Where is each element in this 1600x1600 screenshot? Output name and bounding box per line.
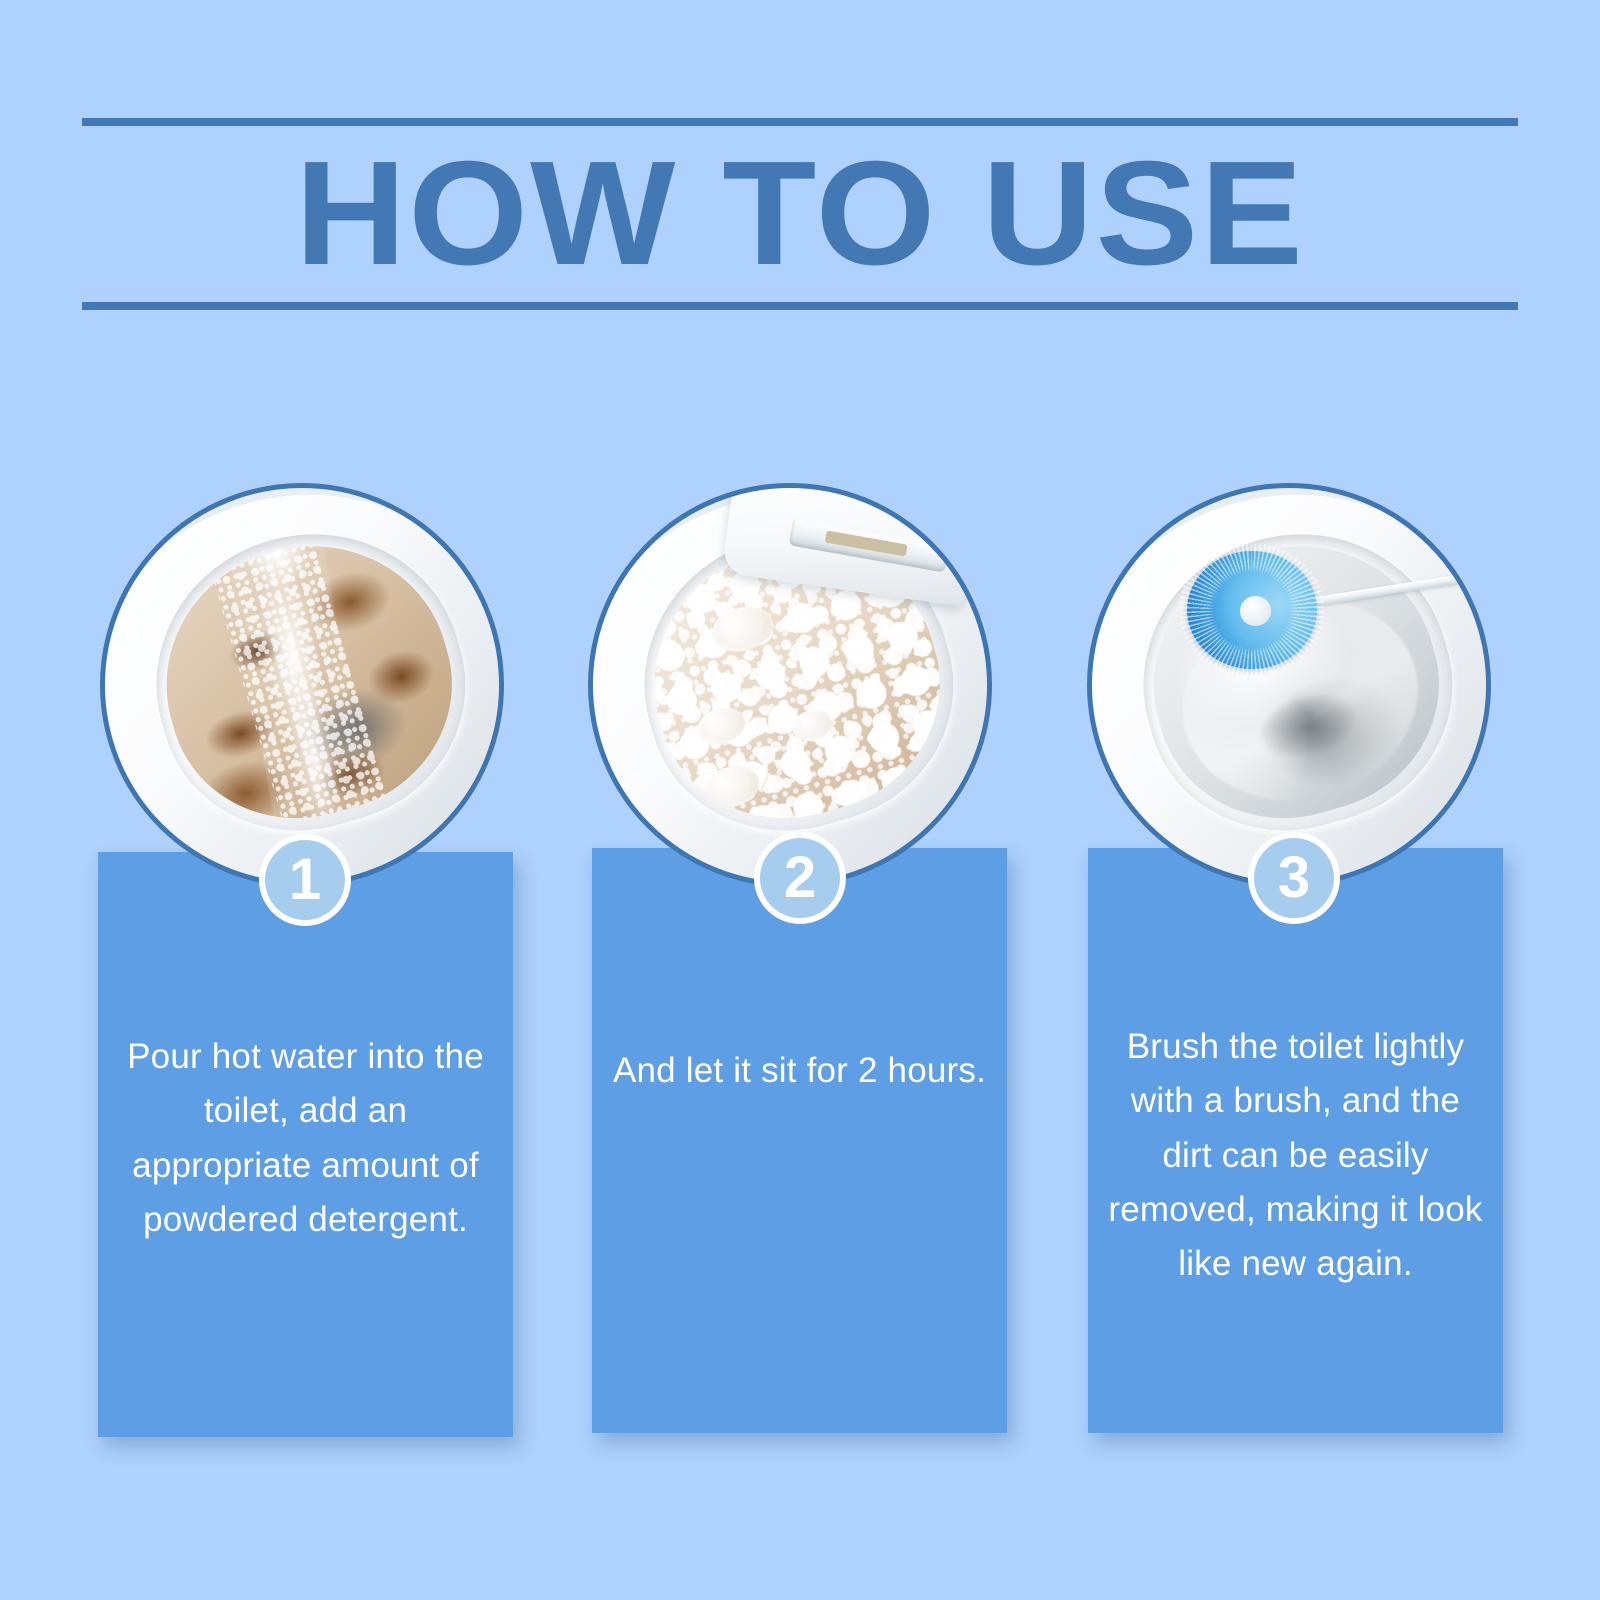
step-2-photo [588,483,992,887]
brush-hub-icon [1240,596,1272,626]
step-2-panel: And let it sit for 2 hours. [592,848,1007,1433]
step-1-number-badge: 1 [259,834,351,926]
step-card-2: And let it sit for 2 hours. [550,0,1050,1600]
step-3-panel: Brush the toilet lightly with a brush, a… [1088,848,1503,1433]
step-1-panel: Pour hot water into the toilet, add an a… [98,852,513,1437]
step-3-photo [1087,483,1491,887]
dirty-toilet-icon [105,488,499,882]
step-1-description: Pour hot water into the toilet, add an a… [98,1030,513,1247]
step-2-number-badge: 2 [754,832,846,924]
step-card-3: Brush the toilet lightly with a brush, a… [1045,0,1545,1600]
clean-toilet-icon [1092,488,1486,882]
infographic-page: HOW TO USE Pour hot water into the toile… [0,0,1600,1600]
step-1-photo [100,483,504,887]
step-card-1: Pour hot water into the toilet, add an a… [55,0,555,1600]
steps-container: Pour hot water into the toilet, add an a… [0,0,1600,1600]
step-2-description: And let it sit for 2 hours. [592,1044,1007,1098]
step-3-description: Brush the toilet lightly with a brush, a… [1088,1020,1503,1291]
step-3-number-badge: 3 [1248,832,1340,924]
foaming-toilet-icon [593,488,987,882]
